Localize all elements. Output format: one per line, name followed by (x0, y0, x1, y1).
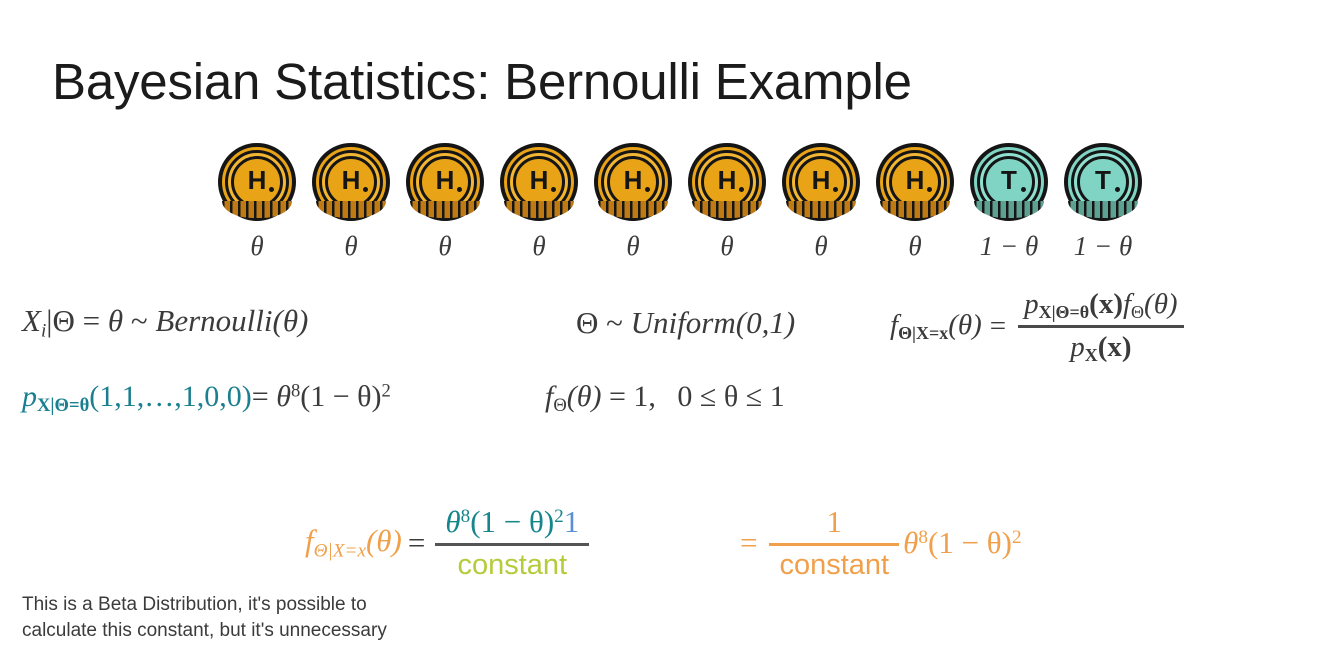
eq-bayes-num-p-argument: (x) (1089, 288, 1123, 320)
eq-posterior-numerator: θ8(1 − θ)21 (435, 505, 589, 540)
eq-bayes-den-p-subscript: X (1085, 345, 1098, 365)
coin-probability-label: θ (532, 231, 545, 262)
eq-likelihood-equals: = (252, 380, 269, 413)
eq-posterior-fraction-bar (435, 543, 589, 546)
coin-item: H θ (312, 143, 390, 262)
equation-bernoulli-model: Xi|Θ = θ ~ Bernoulli(θ) (22, 303, 308, 342)
coin-probability-label: θ (438, 231, 451, 262)
caption-line-1: This is a Beta Distribution, it's possib… (22, 592, 387, 618)
coin-probability-label: 1 − θ (980, 231, 1038, 262)
eq-bayes-lhs-f: f (890, 309, 898, 341)
coin-item: H θ (782, 143, 860, 262)
coin-face-letter: H (218, 143, 296, 221)
eq-likelihood-one-minus-theta: (1 − θ) (300, 380, 381, 413)
eq-bernoulli-X: X (22, 303, 41, 338)
coin-probability-label: 1 − θ (1074, 231, 1132, 262)
coin-probability-label: θ (720, 231, 733, 262)
coin-face-letter: H (406, 143, 484, 221)
caption-line-2: calculate this constant, but it's unnece… (22, 618, 387, 644)
eq-posterior-equals: = (408, 525, 425, 561)
coin-face-letter: T (970, 143, 1048, 221)
eq-bayes-lhs-subscript: Θ|X=x (898, 323, 948, 343)
eq-bayes-num-p: p (1024, 288, 1039, 320)
coin-face-letter: H (500, 143, 578, 221)
coin-glint (363, 187, 368, 192)
coin-glint (645, 187, 650, 192)
coin-sequence: H θ H θ H θ H (218, 143, 1142, 262)
eq-bernoulli-argument: (θ) (273, 303, 309, 338)
coin-glint (457, 187, 462, 192)
coin-heads-icon: H (876, 143, 954, 221)
coin-probability-label: θ (344, 231, 357, 262)
eq-bernoulli-theta: θ (108, 303, 123, 338)
eq-bernoulli-tilde: ~ (131, 303, 148, 338)
coin-face-letter: H (312, 143, 390, 221)
coin-item: T 1 − θ (1064, 143, 1142, 262)
coin-tails-icon: T (970, 143, 1048, 221)
eq-posterior-right-denominator-constant: constant (769, 549, 899, 581)
coin-tails-icon: T (1064, 143, 1142, 221)
eq-prior-f-subscript: Θ (553, 395, 566, 416)
eq-likelihood-theta: θ (276, 380, 291, 413)
coin-face-letter: H (876, 143, 954, 221)
eq-prior-argument: (θ) (567, 380, 602, 413)
eq-posterior-right-one-minus-theta: (1 − θ) (928, 525, 1012, 560)
coin-glint (739, 187, 744, 192)
coin-glint (1021, 187, 1026, 192)
equation-prior-density: fΘ(θ) = 1, 0 ≤ θ ≤ 1 (545, 380, 785, 417)
eq-posterior-lhs: fΘ|X=x(θ) (305, 523, 402, 562)
eq-bayes-num-f-argument: (θ) (1144, 288, 1178, 320)
eq-likelihood-teal-part: pX|Θ=θ(1,1,…,1,0,0) (22, 380, 252, 413)
eq-bayes-den-p: p (1070, 331, 1085, 363)
equation-likelihood: pX|Θ=θ(1,1,…,1,0,0)= θ8(1 − θ)2 (22, 380, 391, 417)
page-title: Bayesian Statistics: Bernoulli Example (52, 52, 912, 111)
eq-posterior-right-kernel: θ8(1 − θ)2 (903, 525, 1021, 561)
caption-note: This is a Beta Distribution, it's possib… (22, 592, 387, 643)
coin-probability-label: θ (814, 231, 827, 262)
eq-prior-equals: = 1, (609, 380, 656, 413)
eq-posterior-num-exponent-8: 8 (461, 506, 471, 527)
eq-posterior-denominator-constant: constant (447, 549, 577, 581)
coin-heads-icon: H (500, 143, 578, 221)
eq-posterior-lhs-subscript: Θ|X=x (314, 541, 366, 562)
coin-item: H θ (688, 143, 766, 262)
eq-bayes-lhs-argument: (θ) (948, 309, 982, 341)
coin-glint (269, 187, 274, 192)
eq-likelihood-p-subscript: X|Θ=θ (37, 395, 89, 416)
eq-likelihood-exponent-2: 2 (382, 380, 391, 401)
eq-posterior-right-fraction-bar (769, 543, 899, 546)
eq-posterior-right-equals: = (740, 525, 757, 561)
coin-glint (551, 187, 556, 192)
coin-heads-icon: H (218, 143, 296, 221)
eq-posterior-fraction: θ8(1 − θ)21 constant (435, 505, 589, 581)
eq-bayes-fraction: pX|Θ=θ(x)fΘ(θ) pX(x) (1018, 288, 1183, 365)
eq-posterior-num-theta: θ (445, 504, 460, 539)
coin-item: H θ (594, 143, 672, 262)
eq-posterior-lhs-argument: (θ) (366, 523, 402, 558)
eq-posterior-lhs-f: f (305, 523, 314, 558)
coin-probability-label: θ (250, 231, 263, 262)
coin-item: H θ (500, 143, 578, 262)
eq-uniform-distribution: Uniform (631, 305, 736, 340)
eq-uniform-tilde: ~ (606, 305, 623, 340)
eq-posterior-right-numerator-one: 1 (817, 505, 853, 540)
coin-glint (1115, 187, 1120, 192)
eq-posterior-num-prior-one: 1 (564, 504, 580, 539)
eq-bernoulli-distribution: Bernoulli (155, 303, 272, 338)
eq-posterior-right-exponent-8: 8 (918, 527, 928, 548)
eq-likelihood-p: p (22, 380, 37, 413)
equation-posterior-simplified: = 1 constant θ8(1 − θ)2 (740, 505, 1022, 581)
coin-heads-icon: H (688, 143, 766, 221)
eq-prior-range: 0 ≤ θ ≤ 1 (677, 380, 784, 413)
eq-bayes-denominator: pX(x) (1064, 331, 1137, 365)
coin-face-letter: T (1064, 143, 1142, 221)
coin-probability-label: θ (908, 231, 921, 262)
eq-posterior-num-likelihood: θ8(1 − θ)2 (445, 504, 563, 539)
eq-bayes-num-f-subscript: Θ (1131, 302, 1144, 322)
eq-bayes-fraction-bar (1018, 325, 1183, 328)
eq-posterior-right-theta: θ (903, 525, 918, 560)
eq-bernoulli-equals: = (83, 303, 100, 338)
coin-face-letter: H (688, 143, 766, 221)
coin-face-letter: H (782, 143, 860, 221)
eq-uniform-argument: (0,1) (736, 305, 795, 340)
equation-bayes-theorem: fΘ|X=x(θ) = pX|Θ=θ(x)fΘ(θ) pX(x) (890, 288, 1188, 365)
coin-heads-icon: H (782, 143, 860, 221)
eq-bayes-num-p-subscript: X|Θ=θ (1039, 302, 1090, 322)
coin-heads-icon: H (406, 143, 484, 221)
eq-posterior-num-exponent-2: 2 (554, 506, 564, 527)
coin-item: H θ (218, 143, 296, 262)
eq-likelihood-exponent-8: 8 (291, 380, 300, 401)
eq-bayes-den-p-argument: (x) (1098, 331, 1132, 363)
equation-uniform-prior: Θ ~ Uniform(0,1) (576, 305, 795, 341)
eq-bayes-num-f: f (1123, 288, 1131, 320)
eq-likelihood-data-argument: (1,1,…,1,0,0) (89, 380, 251, 413)
coin-item: H θ (406, 143, 484, 262)
coin-item: H θ (876, 143, 954, 262)
coin-probability-label: θ (626, 231, 639, 262)
eq-bayes-equals: = (990, 310, 1006, 343)
eq-likelihood-rhs: θ8(1 − θ)2 (276, 380, 391, 413)
eq-bayes-numerator: pX|Θ=θ(x)fΘ(θ) (1018, 288, 1183, 322)
equation-posterior: fΘ|X=x(θ) = θ8(1 − θ)21 constant (305, 505, 593, 581)
eq-bernoulli-theta-cap: Θ (53, 303, 75, 338)
coin-item: T 1 − θ (970, 143, 1048, 262)
eq-posterior-right-exponent-2: 2 (1012, 527, 1022, 548)
eq-uniform-theta-cap: Θ (576, 305, 598, 340)
coin-face-letter: H (594, 143, 672, 221)
eq-posterior-num-one-minus-theta: (1 − θ) (470, 504, 554, 539)
coin-glint (833, 187, 838, 192)
coin-heads-icon: H (312, 143, 390, 221)
coin-heads-icon: H (594, 143, 672, 221)
coin-glint (927, 187, 932, 192)
eq-posterior-right-fraction: 1 constant (769, 505, 899, 581)
